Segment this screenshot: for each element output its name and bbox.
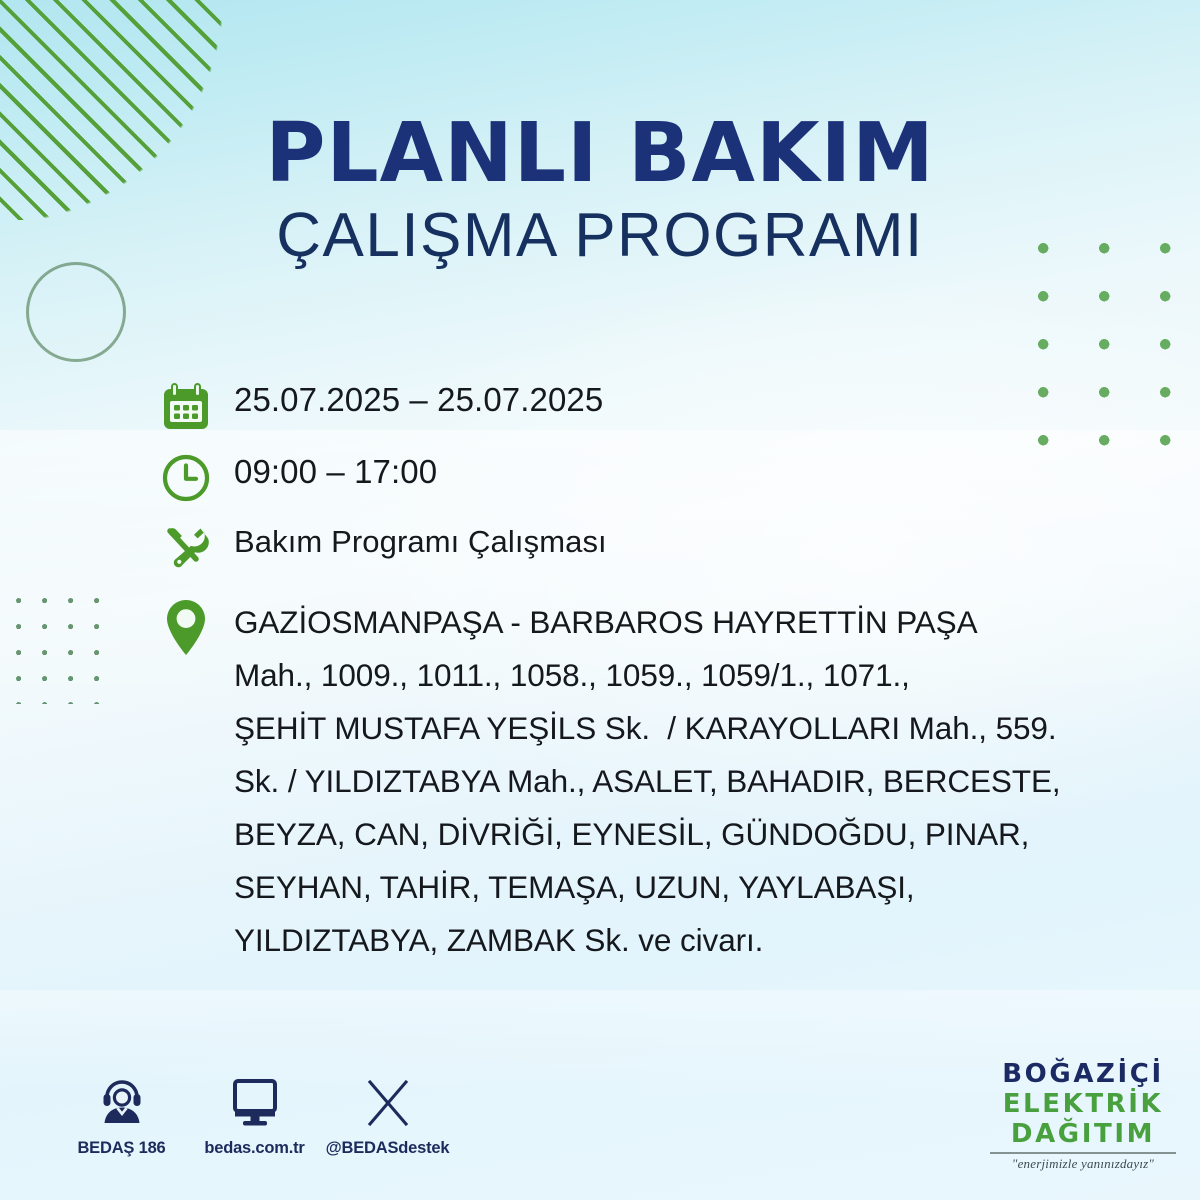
clock-icon xyxy=(160,450,234,504)
info-block: 25.07.2025 – 25.07.2025 09:00 – 17:00 xyxy=(160,378,1170,967)
contact-phone-label: BEDAŞ 186 xyxy=(55,1139,188,1158)
contact-x-label: @BEDASdestek xyxy=(321,1139,454,1158)
logo-tagline: "enerjimizle yanınızdayız" xyxy=(984,1156,1182,1172)
monitor-icon xyxy=(188,1072,321,1134)
address-line: Mah., 1009., 1011., 1058., 1059., 1059/1… xyxy=(234,649,1061,702)
circle-outline-decoration xyxy=(26,262,126,362)
logo-divider xyxy=(990,1152,1176,1154)
bedas-logo: BOĞAZİÇİ ELEKTRİK DAĞITIM "enerjimizle y… xyxy=(984,1059,1182,1172)
work-type-text: Bakım Programı Çalışması xyxy=(234,520,607,564)
address-line: GAZİOSMANPAŞA - BARBAROS HAYRETTİN PAŞA xyxy=(234,596,1061,649)
address-line: BEYZA, CAN, DİVRİĞİ, EYNESİL, GÜNDOĞDU, … xyxy=(234,808,1061,861)
contact-website[interactable]: bedas.com.tr xyxy=(188,1072,321,1158)
tools-icon xyxy=(160,520,234,574)
work-type-row: Bakım Programı Çalışması xyxy=(160,520,1170,574)
address-line: YILDIZTABYA, ZAMBAK Sk. ve civarı. xyxy=(234,914,1061,967)
location-pin-icon xyxy=(160,596,234,658)
headset-operator-icon xyxy=(55,1072,188,1134)
time-range-text: 09:00 – 17:00 xyxy=(234,450,437,494)
location-row: GAZİOSMANPAŞA - BARBAROS HAYRETTİN PAŞA … xyxy=(160,596,1170,967)
address-line: Sk. / YILDIZTABYA Mah., ASALET, BAHADIR,… xyxy=(234,755,1061,808)
contact-x-account[interactable]: @BEDASdestek xyxy=(321,1072,454,1158)
x-twitter-icon xyxy=(321,1072,454,1134)
address-line: ŞEHİT MUSTAFA YEŞİLS Sk. / KARAYOLLARI M… xyxy=(234,702,1061,755)
date-range-text: 25.07.2025 – 25.07.2025 xyxy=(234,378,603,422)
title-main: PLANLI BAKIM xyxy=(0,112,1200,196)
logo-line-dagitim: DAĞITIM xyxy=(984,1119,1182,1149)
poster-title: PLANLI BAKIM ÇALIŞMA PROGRAMI xyxy=(0,112,1200,268)
footer-contact-bar: BEDAŞ 186 bedas.com.tr xyxy=(55,1072,454,1158)
logo-line-bogazici: BOĞAZİÇİ xyxy=(984,1059,1182,1089)
title-subtitle: ÇALIŞMA PROGRAMI xyxy=(0,204,1200,268)
calendar-icon xyxy=(160,378,234,432)
date-row: 25.07.2025 – 25.07.2025 xyxy=(160,378,1170,432)
planli-bakim-poster: PLANLI BAKIM ÇALIŞMA PROGRAMI xyxy=(0,0,1200,1200)
contact-website-label: bedas.com.tr xyxy=(188,1139,321,1158)
logo-line-elektrik: ELEKTRİK xyxy=(984,1089,1182,1119)
time-row: 09:00 – 17:00 xyxy=(160,450,1170,504)
contact-phone[interactable]: BEDAŞ 186 xyxy=(55,1072,188,1158)
address-text: GAZİOSMANPAŞA - BARBAROS HAYRETTİN PAŞA … xyxy=(234,596,1061,967)
dot-grid-left-decoration xyxy=(16,598,100,704)
address-line: SEYHAN, TAHİR, TEMAŞA, UZUN, YAYLABAŞI, xyxy=(234,861,1061,914)
